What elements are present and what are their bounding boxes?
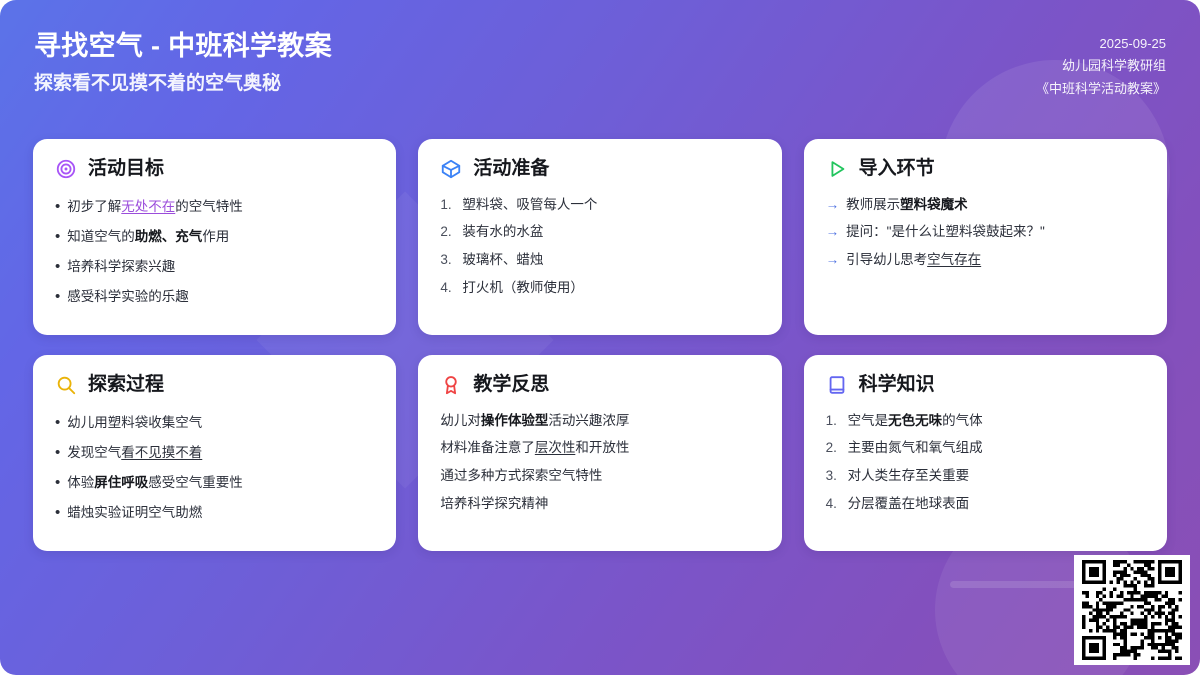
- list-item-text: 打火机（教师使用）: [462, 278, 584, 299]
- list-item: →引导幼儿思考空气存在: [826, 247, 1145, 275]
- search-icon: [55, 374, 77, 396]
- list-item-text: 教师展示塑料袋魔术: [846, 195, 968, 216]
- list-item-text: 对人类生存至关重要: [848, 466, 970, 487]
- card-activity-preparation: 活动准备1.塑料袋、吸管每人一个2.装有水的水盆3.玻璃杯、蜡烛4.打火机（教师…: [418, 139, 781, 335]
- card-header: 科学知识: [826, 374, 1145, 396]
- list-item: •体验屏住呼吸感受空气重要性: [55, 468, 374, 498]
- header-source: 《中班科学活动教案》: [1036, 78, 1166, 100]
- list-item: 3.玻璃杯、蜡烛: [440, 247, 759, 275]
- list-item: •培养科学探索兴趣: [55, 252, 374, 282]
- card-title: 活动目标: [88, 159, 164, 180]
- page-title: 寻找空气 - 中班科学教案: [34, 30, 332, 64]
- card-item-list: •幼儿用塑料袋收集空气•发现空气看不见摸不着•体验屏住呼吸感受空气重要性•蜡烛实…: [55, 407, 374, 528]
- decorative-line: [950, 581, 1080, 588]
- list-item: •发现空气看不见摸不着: [55, 437, 374, 467]
- list-item: •初步了解无处不在的空气特性: [55, 191, 374, 221]
- card-title: 活动准备: [473, 159, 549, 180]
- card-header: 教学反思: [440, 374, 759, 396]
- card-title: 探索过程: [88, 375, 164, 396]
- list-item: →教师展示塑料袋魔术: [826, 191, 1145, 219]
- list-item: 材料准备注意了层次性和开放性: [440, 435, 759, 463]
- card-header: 导入环节: [826, 158, 1145, 180]
- header-organization: 幼儿园科学教研组: [1036, 55, 1166, 77]
- list-marker-dot: •: [55, 411, 60, 434]
- qr-code[interactable]: [1074, 555, 1190, 665]
- list-item-text: 体验屏住呼吸感受空气重要性: [67, 473, 243, 494]
- card-title: 导入环节: [859, 159, 935, 180]
- list-item-text: 知道空气的助燃、充气作用: [67, 227, 229, 248]
- play-triangle-icon: [826, 158, 848, 180]
- list-marker-arrow: →: [826, 250, 840, 271]
- list-item: •感受科学实验的乐趣: [55, 282, 374, 312]
- list-item: 培养科学探究精神: [440, 491, 759, 519]
- list-item: 通过多种方式探索空气特性: [440, 463, 759, 491]
- list-marker-num: 2.: [826, 438, 841, 459]
- list-item-text: 提问："是什么让塑料袋鼓起来？": [846, 222, 1045, 243]
- list-item: 2.主要由氮气和氧气组成: [826, 435, 1145, 463]
- header-date: 2025-09-25: [1036, 33, 1166, 55]
- list-item-text: 塑料袋、吸管每人一个: [462, 195, 597, 216]
- card-grid: 活动目标•初步了解无处不在的空气特性•知道空气的助燃、充气作用•培养科学探索兴趣…: [33, 139, 1167, 551]
- list-item-text: 分层覆盖在地球表面: [848, 494, 970, 515]
- card-title: 科学知识: [859, 375, 935, 396]
- list-marker-dot: •: [55, 441, 60, 464]
- card-teaching-reflection: 教学反思幼儿对操作体验型活动兴趣浓厚材料准备注意了层次性和开放性通过多种方式探索…: [418, 355, 781, 551]
- list-marker-num: 4.: [826, 494, 841, 515]
- card-exploration-process: 探索过程•幼儿用塑料袋收集空气•发现空气看不见摸不着•体验屏住呼吸感受空气重要性…: [33, 355, 396, 551]
- list-item-text: 装有水的水盆: [462, 222, 543, 243]
- page-subtitle: 探索看不见摸不着的空气奥秘: [34, 72, 332, 96]
- list-item-text: 材料准备注意了层次性和开放性: [440, 438, 629, 459]
- list-item-text: 通过多种方式探索空气特性: [440, 466, 602, 487]
- card-introduction-section: 导入环节→教师展示塑料袋魔术→提问："是什么让塑料袋鼓起来？"→引导幼儿思考空气…: [804, 139, 1167, 335]
- card-header: 探索过程: [55, 374, 374, 396]
- card-header: 活动目标: [55, 158, 374, 180]
- list-item: 幼儿对操作体验型活动兴趣浓厚: [440, 407, 759, 435]
- card-item-list: •初步了解无处不在的空气特性•知道空气的助燃、充气作用•培养科学探索兴趣•感受科…: [55, 191, 374, 312]
- header-title-block: 寻找空气 - 中班科学教案 探索看不见摸不着的空气奥秘: [34, 0, 332, 96]
- list-item: 1.空气是无色无味的气体: [826, 407, 1145, 435]
- list-marker-arrow: →: [826, 195, 840, 216]
- qr-code-image: [1082, 560, 1182, 660]
- list-item-text: 引导幼儿思考空气存在: [846, 250, 981, 271]
- list-marker-dot: •: [55, 471, 60, 494]
- list-item-text: 空气是无色无味的气体: [848, 411, 983, 432]
- list-marker-num: 4.: [440, 278, 455, 299]
- list-item: →提问："是什么让塑料袋鼓起来？": [826, 219, 1145, 247]
- list-item: 1.塑料袋、吸管每人一个: [440, 191, 759, 219]
- list-item-text: 培养科学探究精神: [440, 494, 548, 515]
- card-title: 教学反思: [473, 375, 549, 396]
- list-marker-num: 2.: [440, 222, 455, 243]
- box-icon: [440, 158, 462, 180]
- list-item-text: 初步了解无处不在的空气特性: [67, 197, 243, 218]
- card-item-list: 1.塑料袋、吸管每人一个2.装有水的水盆3.玻璃杯、蜡烛4.打火机（教师使用）: [440, 191, 759, 303]
- list-marker-dot: •: [55, 195, 60, 218]
- list-item: 4.分层覆盖在地球表面: [826, 491, 1145, 519]
- book-icon: [826, 374, 848, 396]
- header-meta-block: 2025-09-25 幼儿园科学教研组 《中班科学活动教案》: [1036, 0, 1166, 100]
- card-item-list: 幼儿对操作体验型活动兴趣浓厚材料准备注意了层次性和开放性通过多种方式探索空气特性…: [440, 407, 759, 519]
- list-marker-dot: •: [55, 225, 60, 248]
- list-item: 4.打火机（教师使用）: [440, 275, 759, 303]
- list-item-text: 感受科学实验的乐趣: [67, 287, 189, 308]
- list-item: •知道空气的助燃、充气作用: [55, 221, 374, 251]
- list-item-text: 培养科学探索兴趣: [67, 257, 175, 278]
- card-item-list: 1.空气是无色无味的气体2.主要由氮气和氧气组成3.对人类生存至关重要4.分层覆…: [826, 407, 1145, 519]
- list-marker-num: 3.: [826, 466, 841, 487]
- list-marker-dot: •: [55, 285, 60, 308]
- list-item-text: 幼儿用塑料袋收集空气: [67, 413, 202, 434]
- card-activity-goals: 活动目标•初步了解无处不在的空气特性•知道空气的助燃、充气作用•培养科学探索兴趣…: [33, 139, 396, 335]
- list-marker-arrow: →: [826, 222, 840, 243]
- list-item: •蜡烛实验证明空气助燃: [55, 498, 374, 528]
- card-header: 活动准备: [440, 158, 759, 180]
- list-item-text: 幼儿对操作体验型活动兴趣浓厚: [440, 411, 629, 432]
- list-marker-dot: •: [55, 501, 60, 524]
- list-marker-num: 1.: [826, 411, 841, 432]
- card-science-knowledge: 科学知识1.空气是无色无味的气体2.主要由氮气和氧气组成3.对人类生存至关重要4…: [804, 355, 1167, 551]
- award-icon: [440, 374, 462, 396]
- list-marker-dot: •: [55, 255, 60, 278]
- list-item-text: 主要由氮气和氧气组成: [848, 438, 983, 459]
- list-item: 2.装有水的水盆: [440, 219, 759, 247]
- list-item-text: 蜡烛实验证明空气助燃: [67, 503, 202, 524]
- target-icon: [55, 158, 77, 180]
- slide-canvas: 寻找空气 - 中班科学教案 探索看不见摸不着的空气奥秘 2025-09-25 幼…: [0, 0, 1200, 675]
- list-marker-num: 1.: [440, 195, 455, 216]
- list-item-text: 发现空气看不见摸不着: [67, 443, 202, 464]
- list-item-text: 玻璃杯、蜡烛: [462, 250, 543, 271]
- list-item: •幼儿用塑料袋收集空气: [55, 407, 374, 437]
- list-marker-num: 3.: [440, 250, 455, 271]
- slide-header: 寻找空气 - 中班科学教案 探索看不见摸不着的空气奥秘 2025-09-25 幼…: [0, 0, 1200, 124]
- list-item: 3.对人类生存至关重要: [826, 463, 1145, 491]
- card-item-list: →教师展示塑料袋魔术→提问："是什么让塑料袋鼓起来？"→引导幼儿思考空气存在: [826, 191, 1145, 275]
